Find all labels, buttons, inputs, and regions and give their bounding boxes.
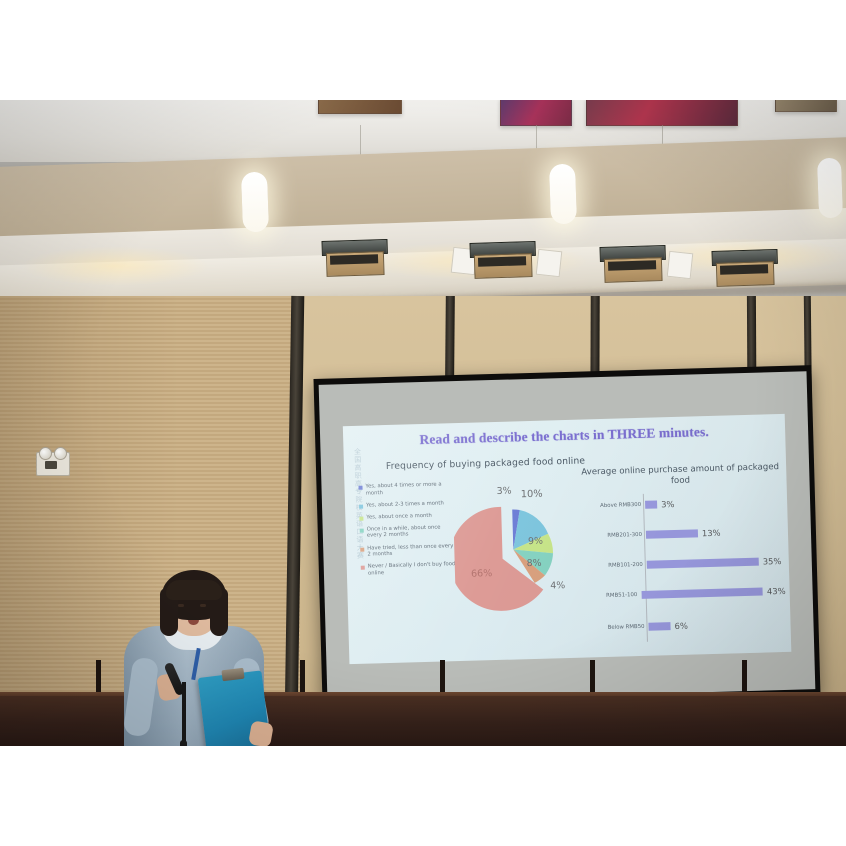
legend-item: Yes, about once a month	[359, 512, 455, 521]
presenter-hand-right	[248, 720, 274, 746]
bar-chart-title: Average online purchase amount of packag…	[580, 462, 781, 490]
equipment-paper-tag	[536, 249, 563, 277]
legend-label: Yes, about 2-3 times a month	[366, 500, 444, 509]
equipment-box-opening	[720, 264, 768, 275]
bar-category-label: Above RMB300	[581, 502, 645, 510]
ceiling-strip-light	[241, 172, 269, 233]
legend-item: Once in a while, about once every 2 mont…	[360, 524, 456, 540]
hanging-banner	[500, 100, 572, 126]
hanging-banner	[586, 100, 738, 126]
emergency-light-label	[45, 461, 57, 469]
legend-swatch-icon	[358, 486, 362, 490]
pie-label-66pct: 66%	[471, 568, 493, 580]
equipment-box-opening	[478, 256, 526, 267]
pie-chart-svg	[453, 482, 587, 636]
bar-value-label: 3%	[661, 499, 675, 509]
legend-item: Have tried, less than once every 2 month…	[360, 543, 456, 559]
bar-chart: Above RMB300 3% RMB201-300 13% RMB101-20…	[581, 488, 787, 648]
legend-label: Have tried, less than once every 2 month…	[367, 543, 456, 559]
presenter-fringe	[166, 580, 222, 600]
bar-row: RMB201-300 13%	[582, 518, 785, 550]
bar-category-label: RMB201-300	[582, 532, 646, 540]
bar-value-label: 43%	[767, 586, 786, 597]
legend-label: Yes, about 4 times or more a month	[365, 481, 454, 497]
pie-label-10pct: 10%	[521, 489, 543, 501]
legend-swatch-icon	[359, 504, 363, 508]
bar-category-label: Below RMB50	[584, 624, 648, 632]
presenter	[110, 570, 290, 746]
ceiling-equipment-box	[711, 249, 776, 285]
legend-swatch-icon	[360, 529, 364, 533]
legend-item: Yes, about 4 times or more a month	[358, 481, 454, 497]
equipment-box-opening	[608, 260, 656, 271]
bar-fill	[647, 558, 759, 569]
ceiling-strip-light	[549, 164, 577, 225]
slide-title: Read and describe the charts in THREE mi…	[343, 422, 785, 450]
equipment-paper-tag	[667, 251, 694, 279]
bar-row: RMB101-200 35%	[582, 548, 785, 580]
pie-label-4pct: 4%	[550, 580, 565, 591]
hanging-banner	[318, 100, 402, 114]
presentation-slide: 全国高职高专院校英语口语大赛 Read and describe the cha…	[343, 414, 791, 664]
emergency-light-bulb-left	[39, 447, 52, 460]
emergency-light-bulb-right	[54, 447, 67, 460]
ceiling-equipment-box	[469, 241, 534, 277]
pie-legend: Yes, about 4 times or more a month Yes, …	[358, 481, 457, 583]
bar-category-label: RMB101-200	[583, 562, 647, 570]
ceiling-equipment-box	[599, 245, 664, 281]
legend-swatch-icon	[361, 566, 365, 570]
ceiling-light-glow	[20, 246, 210, 286]
pie-label-3pct: 3%	[497, 486, 512, 497]
bar-fill	[646, 529, 698, 538]
letterbox-bottom	[0, 746, 846, 846]
pie-label-8pct: 8%	[527, 558, 542, 569]
legend-item: Never / Basically I don't buy food onlin…	[361, 561, 457, 577]
letterbox-top	[0, 0, 846, 100]
presenter-eye-left	[178, 604, 184, 607]
screenshot-canvas: 全国高职高专院校英语口语大赛 Read and describe the cha…	[0, 0, 846, 846]
pie-chart-title: Frequency of buying packaged food online	[386, 455, 585, 472]
legend-item: Yes, about 2-3 times a month	[359, 500, 455, 509]
projection-screen: 全国高职高专院校英语口语大赛 Read and describe the cha…	[313, 365, 820, 709]
bar-value-label: 6%	[674, 621, 688, 631]
bar-row: Above RMB300 3%	[581, 488, 784, 520]
microphone-stand	[182, 682, 186, 746]
bar-fill	[645, 500, 657, 508]
bar-value-label: 13%	[702, 528, 721, 539]
legend-label: Once in a while, about once every 2 mont…	[367, 524, 456, 540]
bar-row: RMB51-100 43%	[583, 578, 786, 610]
photograph: 全国高职高专院校英语口语大赛 Read and describe the cha…	[0, 100, 846, 746]
legend-swatch-icon	[359, 516, 363, 520]
pie-label-9pct: 9%	[528, 536, 543, 547]
legend-label: Never / Basically I don't buy food onlin…	[368, 561, 457, 577]
bar-category-label: RMB51-100	[584, 592, 642, 600]
legend-swatch-icon	[360, 547, 364, 551]
bar-row: Below RMB50 6%	[584, 610, 787, 642]
hanging-banner	[775, 100, 837, 112]
bar-fill	[641, 588, 763, 599]
ceiling-strip-light	[817, 158, 843, 219]
pie-chart: 3% 10% 9% 8% 4% 66%	[453, 482, 587, 636]
presenter-eye-right	[200, 604, 206, 607]
emergency-light	[36, 452, 70, 476]
ceiling-equipment-box	[321, 239, 386, 275]
equipment-box-opening	[330, 254, 378, 265]
legend-label: Yes, about once a month	[366, 513, 432, 521]
bar-value-label: 35%	[763, 556, 782, 567]
bar-fill	[648, 622, 670, 631]
